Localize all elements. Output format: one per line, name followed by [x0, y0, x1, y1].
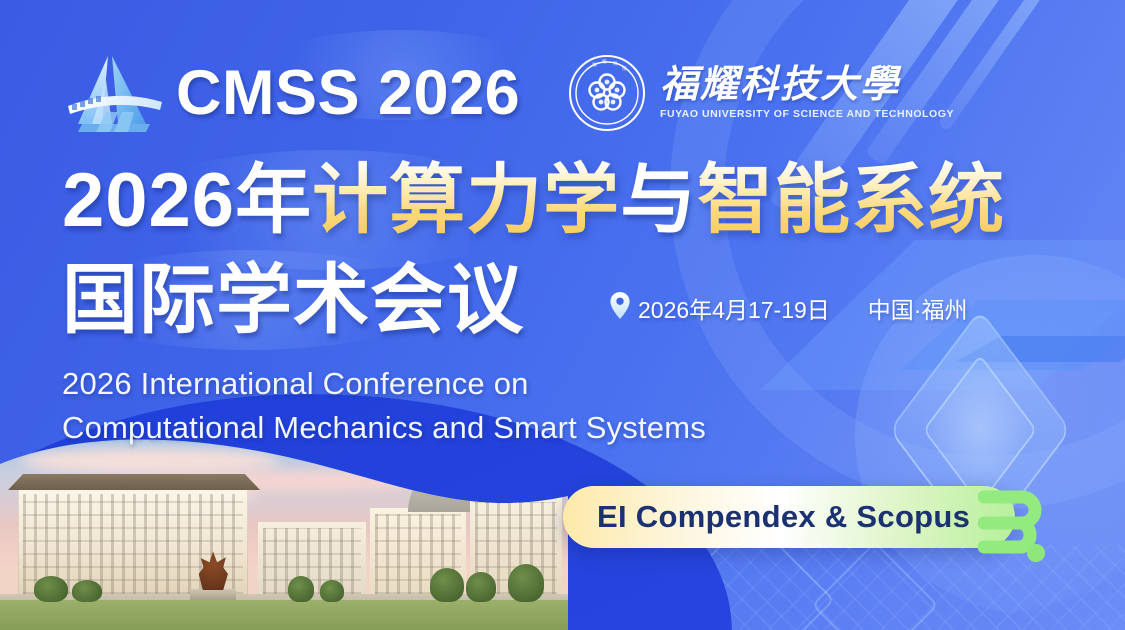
title-year: 2026年 — [62, 158, 312, 243]
title-keyword-mechanics: 计算力学 — [312, 158, 620, 243]
svg-text:耀: 耀 — [602, 58, 607, 65]
ei-scopus-e-mark-icon — [978, 487, 1048, 563]
conference-title-en-line1: 2026 International Conference on — [62, 362, 706, 406]
title-keyword-smart-systems: 智能系统 — [697, 158, 1005, 243]
title-conjunction: 与 — [620, 158, 697, 243]
photo-roof — [8, 474, 260, 490]
photo-tree — [72, 580, 102, 602]
title-conference-label: 国际学术会议 — [62, 258, 524, 343]
cmss-acronym-title: CMSS 2026 — [176, 62, 520, 125]
photo-statue-base — [190, 589, 236, 600]
svg-text:科: 科 — [613, 60, 618, 67]
university-logo: 福耀科技 福耀科技大學 FUYAO UNIVERSITY OF SCIENCE … — [568, 54, 954, 132]
conference-title-en: 2026 International Conference on Computa… — [62, 362, 706, 450]
university-name-en: FUYAO UNIVERSITY OF SCIENCE AND TECHNOLO… — [660, 108, 954, 120]
photo-tree — [466, 572, 496, 602]
conference-title-cn-line2: 国际学术会议 — [62, 263, 524, 339]
photo-lawn — [0, 600, 568, 630]
conference-location: 中国·福州 — [868, 291, 968, 325]
conference-banner: CMSS 2026 福耀科技 — [0, 0, 1125, 630]
svg-text:技: 技 — [622, 65, 627, 72]
banner-header: CMSS 2026 — [62, 50, 520, 136]
photo-tree — [320, 580, 344, 602]
photo-tree — [508, 564, 544, 602]
conference-date: 2026年4月17-19日 — [638, 291, 830, 325]
indexing-badge: EI Compendex & Scopus — [563, 486, 1015, 548]
university-names: 福耀科技大學 FUYAO UNIVERSITY OF SCIENCE AND T… — [660, 66, 954, 120]
photo-tree — [430, 568, 464, 602]
indexing-badge-label: EI Compendex & Scopus — [597, 499, 970, 535]
conference-title-cn-line1: 2026年计算力学与智能系统 — [62, 163, 1005, 239]
conference-title-en-line2: Computational Mechanics and Smart System… — [62, 406, 706, 450]
cmss-pyramid-bridge-logo-icon — [62, 50, 172, 136]
location-pin-icon — [610, 292, 630, 325]
university-name-cn: 福耀科技大學 — [660, 66, 954, 106]
svg-text:福: 福 — [592, 61, 597, 68]
university-seal-icon: 福耀科技 — [568, 54, 646, 132]
conference-meta: 2026年4月17-19日 中国·福州 — [610, 291, 967, 325]
photo-tree — [34, 576, 68, 602]
photo-tree — [288, 576, 314, 602]
